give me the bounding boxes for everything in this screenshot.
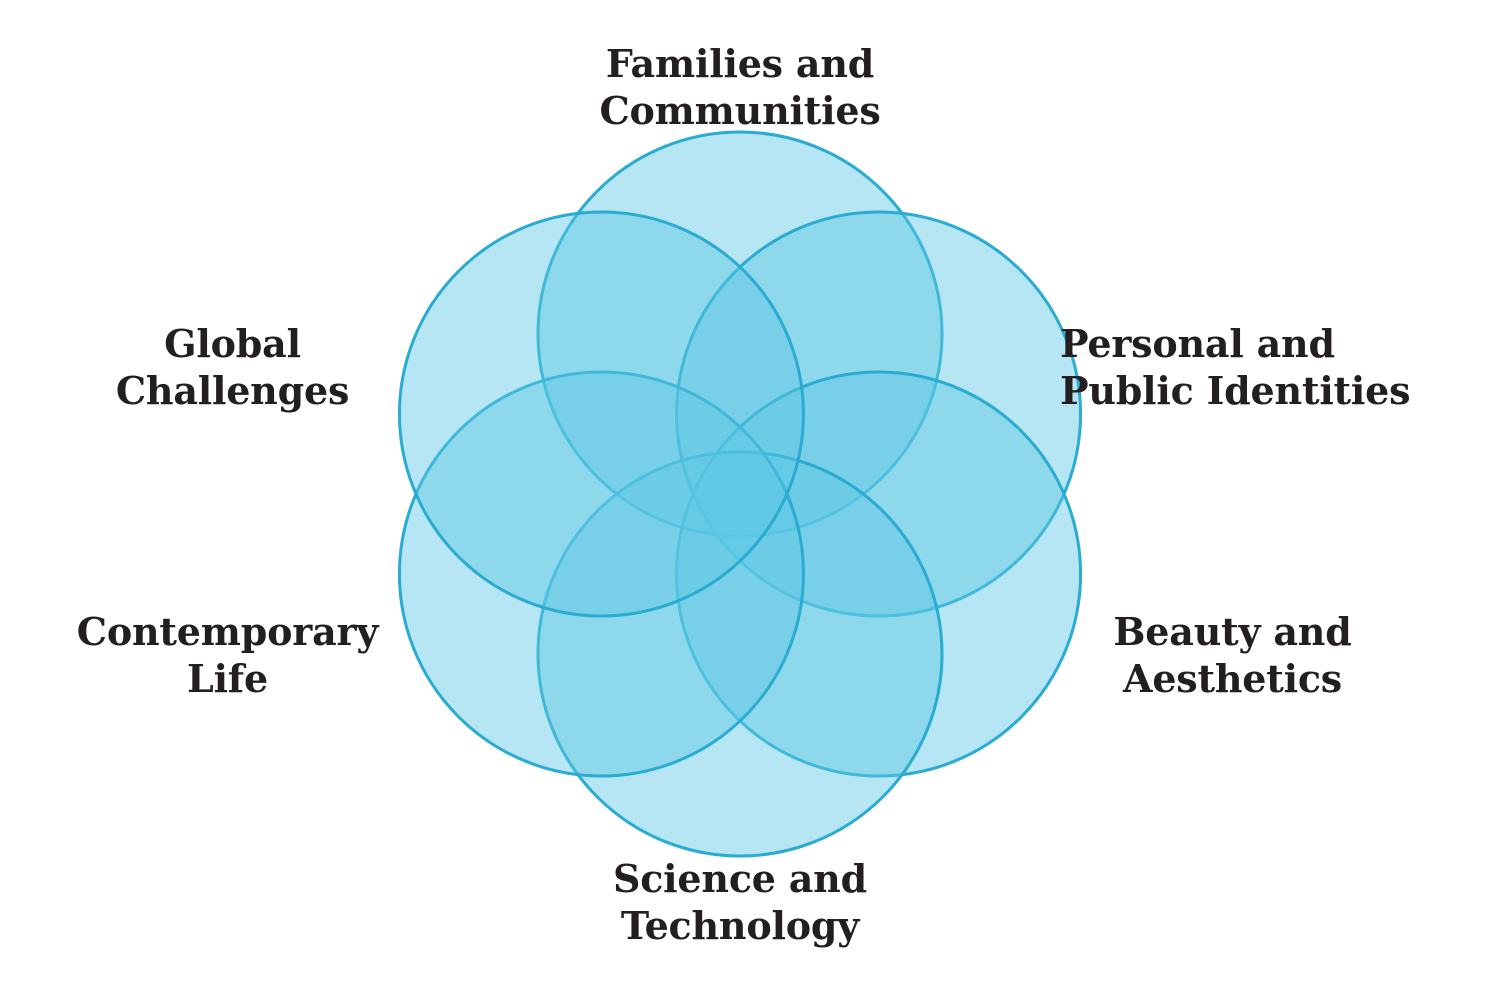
theme-label-contemporary-life: Contemporary Life: [50, 608, 405, 702]
circle-global-challenges: [399, 212, 803, 616]
theme-label-personal-and-public-identities: Personal and Public Identities: [1060, 320, 1460, 414]
theme-label-global-challenges: Global Challenges: [60, 320, 405, 414]
page-root: Families and Communities Personal and Pu…: [0, 0, 1500, 994]
theme-label-beauty-and-aesthetics: Beauty and Aesthetics: [1060, 608, 1405, 702]
theme-label-science-and-technology: Science and Technology: [470, 855, 1010, 949]
theme-label-families-and-communities: Families and Communities: [470, 40, 1010, 134]
venn-diagram: [0, 0, 1500, 994]
venn-circles: [399, 132, 1080, 856]
six-circle-flower-svg: [0, 0, 1500, 994]
